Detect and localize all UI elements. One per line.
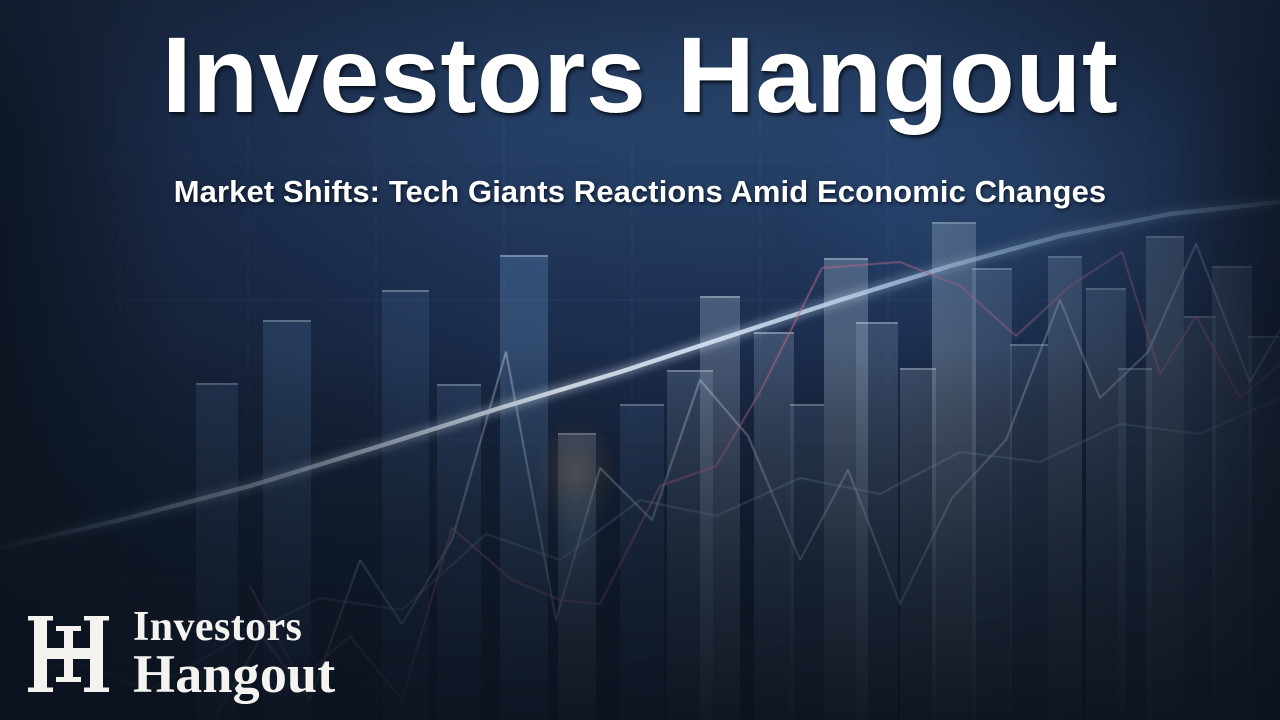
ih-monogram-icon xyxy=(28,604,120,704)
promo-banner: Investors Hangout Market Shifts: Tech Gi… xyxy=(0,0,1280,720)
logo-line-1: Investors xyxy=(133,608,335,647)
logo-line-2: Hangout xyxy=(133,649,335,700)
brand-logo[interactable]: Investors Hangout xyxy=(28,604,335,704)
logo-wordmark: Investors Hangout xyxy=(133,608,335,700)
